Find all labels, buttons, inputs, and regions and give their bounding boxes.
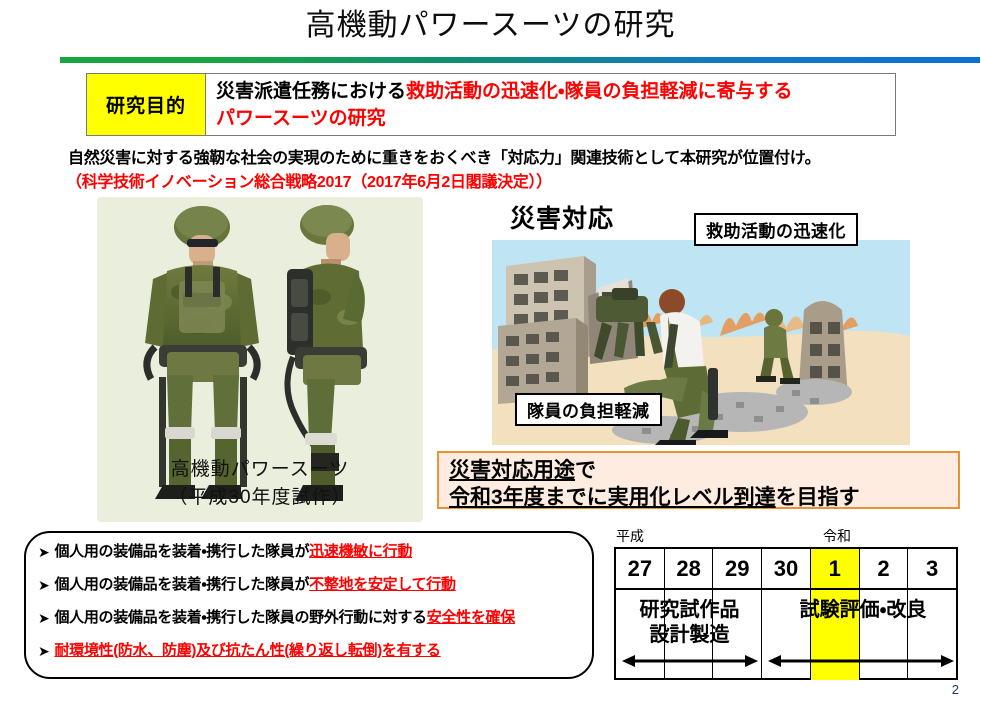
research-purpose-text: 災害派遣任務における救助活動の迅速化・隊員の負担軽減に寄与する パワースーツの研… xyxy=(206,74,895,135)
note-line-2: （科学技術イノベーション総合戦略2017（2017年6月2日閣議決定）） xyxy=(66,168,552,192)
bullet-arrow-icon: ➤ xyxy=(38,608,49,628)
requirement-item: ➤ 個人用の装備品を装着・携行した隊員の野外行動に対する安全性を確保 xyxy=(38,608,586,628)
year-cell: 28 xyxy=(665,549,714,588)
slide-root: 高機動パワースーツの研究 研究目的 災害派遣任務における救助活動の迅速化・隊員の… xyxy=(0,0,981,711)
photo-caption-line1: 高機動パワースーツ xyxy=(97,456,423,484)
page-number: 2 xyxy=(952,682,959,697)
phase-label-design: 研究試作品 設計製造 xyxy=(616,598,763,648)
double-arrow-icon xyxy=(622,652,758,670)
building-left-block xyxy=(498,318,588,404)
era-label-reiwa: 令和 xyxy=(823,526,851,546)
schedule-year-row: 27 28 29 30 1 2 3 xyxy=(616,549,956,590)
double-arrow-icon xyxy=(768,652,954,670)
year-cell: 2 xyxy=(860,549,909,588)
research-purpose-box: 研究目的 災害派遣任務における救助活動の迅速化・隊員の負担軽減に寄与する パワー… xyxy=(86,73,896,136)
requirement-item: ➤ 耐環境性(防水、防塵)及び抗たん性(繰り返し転倒)を有する xyxy=(38,641,586,661)
schedule-table: 平成 令和 27 28 29 30 1 2 3 xyxy=(614,526,958,681)
era-label-heisei: 平成 xyxy=(616,526,644,546)
schedule-grid: 27 28 29 30 1 2 3 研究試作 xyxy=(614,547,958,680)
requirement-text-black: 個人用の装備品を装着・携行した隊員が xyxy=(54,542,309,562)
photo-caption: 高機動パワースーツ （平成30年度試作） xyxy=(97,456,423,512)
year-cell: 29 xyxy=(713,549,762,588)
year-cell-current: 1 xyxy=(811,549,860,588)
bullet-arrow-icon: ➤ xyxy=(38,575,49,595)
year-cell: 27 xyxy=(616,549,665,588)
year-cell: 3 xyxy=(908,549,956,588)
requirements-box: ➤ 個人用の装備品を装着・携行した隊員が迅速機敏に行動 ➤ 個人用の装備品を装着… xyxy=(24,531,594,679)
title-accent-rule xyxy=(60,57,980,63)
phase-label-test: 試験評価・改良 xyxy=(766,598,960,623)
schedule-phase-row: 研究試作品 設計製造 試験評価・改良 xyxy=(616,590,956,680)
requirement-item: ➤ 個人用の装備品を装着・携行した隊員が不整地を安定して行動 xyxy=(38,575,586,595)
phase-1-line1: 研究試作品 xyxy=(616,598,763,623)
page-title: 高機動パワースーツの研究 xyxy=(0,6,981,46)
photo-caption-line2: （平成30年度試作） xyxy=(97,484,423,512)
goal-line1-tail: で xyxy=(575,459,596,482)
requirement-text-black: 個人用の装備品を装着・携行した隊員の野外行動に対する xyxy=(54,608,426,628)
goal-line-2: 令和3年度までに実用化レベル到達を目指す xyxy=(449,484,948,511)
disaster-response-heading: 災害対応 xyxy=(503,198,621,236)
purpose-text-part1: 災害派遣任務における xyxy=(216,81,406,102)
purpose-text-part2: 救助活動の迅速化・隊員の負担軽減に寄与する xyxy=(406,81,792,102)
power-suit-photo: 高機動パワースーツ （平成30年度試作） xyxy=(97,197,423,522)
goal-line2-underlined: 令和3年度までに実用化レベル到達 xyxy=(449,486,776,509)
callout-burden-reduction: 隊員の負担軽減 xyxy=(515,393,662,426)
requirement-text-red: 安全性を確保 xyxy=(427,608,515,628)
phase-2-arrow xyxy=(768,652,954,670)
goal-line2-tail: を目指す xyxy=(776,486,860,509)
phase-1-arrow xyxy=(622,652,758,670)
bullet-arrow-icon: ➤ xyxy=(38,641,49,661)
requirement-text-black: 個人用の装備品を装着・携行した隊員が xyxy=(54,575,309,595)
goal-box: 災害対応用途で 令和3年度までに実用化レベル到達を目指す xyxy=(437,451,960,509)
purpose-text-part3: パワースーツの研究 xyxy=(216,108,386,129)
research-purpose-label: 研究目的 xyxy=(87,74,206,135)
requirement-text-red: 耐環境性(防水、防塵)及び抗たん性(繰り返し転倒)を有する xyxy=(54,641,440,661)
callout-rescue-speed: 救助活動の迅速化 xyxy=(694,213,858,246)
requirement-text-red: 不整地を安定して行動 xyxy=(309,575,456,595)
bullet-arrow-icon: ➤ xyxy=(38,542,49,562)
requirement-item: ➤ 個人用の装備品を装着・携行した隊員が迅速機敏に行動 xyxy=(38,542,586,562)
requirement-text-red: 迅速機敏に行動 xyxy=(309,542,412,562)
note-line-1: 自然災害に対する強靭な社会の実現のために重きをおくべき「対応力」関連技術として本… xyxy=(68,144,820,168)
goal-line-1: 災害対応用途で xyxy=(449,457,948,484)
phase-1-line2: 設計製造 xyxy=(616,623,763,648)
goal-line1-underlined: 災害対応用途 xyxy=(449,459,575,482)
year-cell: 30 xyxy=(762,549,811,588)
